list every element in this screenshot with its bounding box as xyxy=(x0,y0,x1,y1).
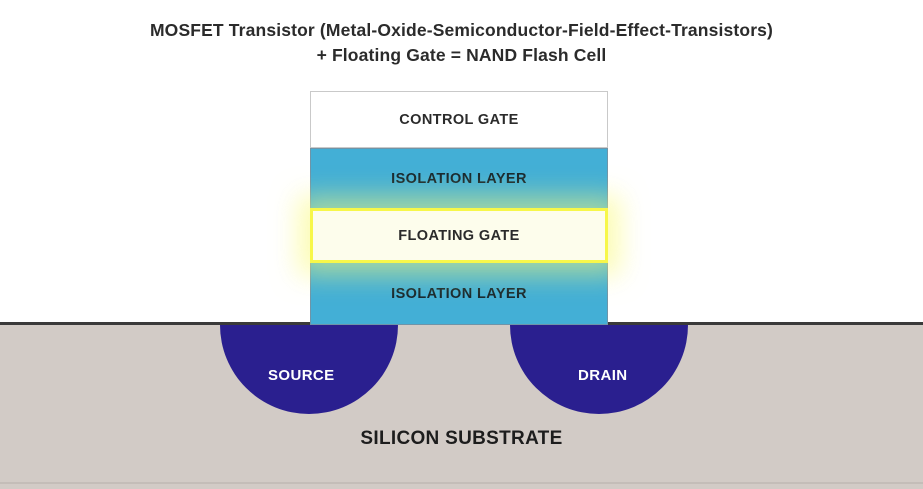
drain-label: DRAIN xyxy=(578,367,628,384)
title-line-1: MOSFET Transistor (Metal-Oxide-Semicondu… xyxy=(0,18,923,43)
diagram-title: MOSFET Transistor (Metal-Oxide-Semicondu… xyxy=(0,18,923,68)
floating-gate-layer: FLOATING GATE xyxy=(310,208,608,263)
title-line-2: + Floating Gate = NAND Flash Cell xyxy=(0,43,923,68)
substrate-label: SILICON SUBSTRATE xyxy=(0,428,923,450)
isolation-layer-upper: ISOLATION LAYER xyxy=(310,148,608,208)
isolation-layer-lower: ISOLATION LAYER xyxy=(310,263,608,325)
nand-flash-cell-diagram: MOSFET Transistor (Metal-Oxide-Semicondu… xyxy=(0,0,923,489)
source-label: SOURCE xyxy=(268,367,335,384)
control-gate-layer: CONTROL GATE xyxy=(310,91,608,148)
gate-stack: CONTROL GATE ISOLATION LAYER FLOATING GA… xyxy=(310,91,608,325)
substrate-bottom-edge xyxy=(0,482,923,484)
silicon-substrate xyxy=(0,322,923,489)
